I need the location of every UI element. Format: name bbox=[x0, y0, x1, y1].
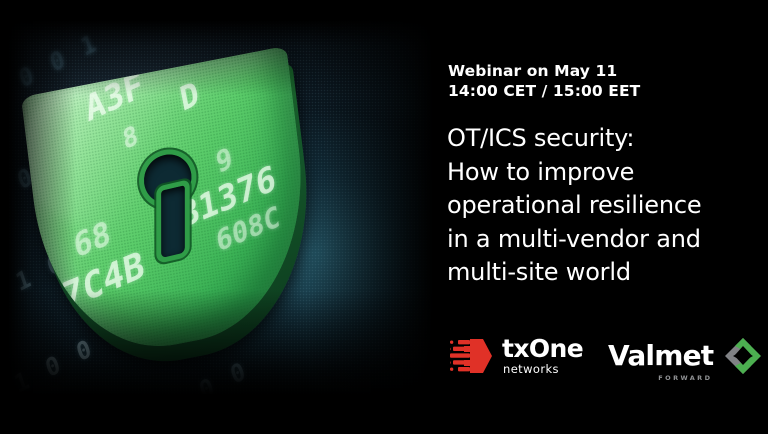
logo-row: txOne networks Valmet FORWARD bbox=[450, 332, 760, 390]
shield-artwork-image: 0 1 1 0 1 0 0 1 1 0 0 1 0 1 1 0 0 0 1 1 … bbox=[8, 20, 433, 395]
txone-name: txOne bbox=[502, 336, 583, 361]
valmet-tagline: FORWARD bbox=[658, 375, 712, 382]
txone-tagline: networks bbox=[503, 364, 583, 376]
valmet-diamond-icon bbox=[721, 334, 765, 378]
headline-line: multi-site world bbox=[447, 256, 737, 290]
webinar-time: 14:00 CET / 15:00 EET bbox=[448, 81, 640, 101]
headline-line: How to improve bbox=[447, 156, 737, 190]
txone-logo[interactable]: txOne networks bbox=[450, 336, 583, 376]
webinar-date-time: Webinar on May 11 14:00 CET / 15:00 EET bbox=[448, 61, 640, 101]
txone-arrow-icon bbox=[450, 336, 496, 376]
headline-line: in a multi-vendor and bbox=[447, 223, 737, 257]
valmet-logo[interactable]: Valmet FORWARD bbox=[608, 334, 765, 378]
txone-wordmark: txOne networks bbox=[502, 336, 583, 376]
headline-line: OT/ICS security: bbox=[447, 122, 737, 156]
artwork-vignette bbox=[8, 20, 433, 395]
webinar-promo-banner: 0 1 1 0 1 0 0 1 1 0 0 1 0 1 1 0 0 0 1 1 … bbox=[0, 0, 768, 434]
headline-line: operational resilience bbox=[447, 189, 737, 223]
page-title: OT/ICS security: How to improve operatio… bbox=[447, 122, 737, 290]
valmet-name: Valmet bbox=[608, 339, 713, 372]
valmet-wordmark: Valmet FORWARD bbox=[608, 342, 713, 370]
webinar-date: Webinar on May 11 bbox=[448, 61, 640, 81]
